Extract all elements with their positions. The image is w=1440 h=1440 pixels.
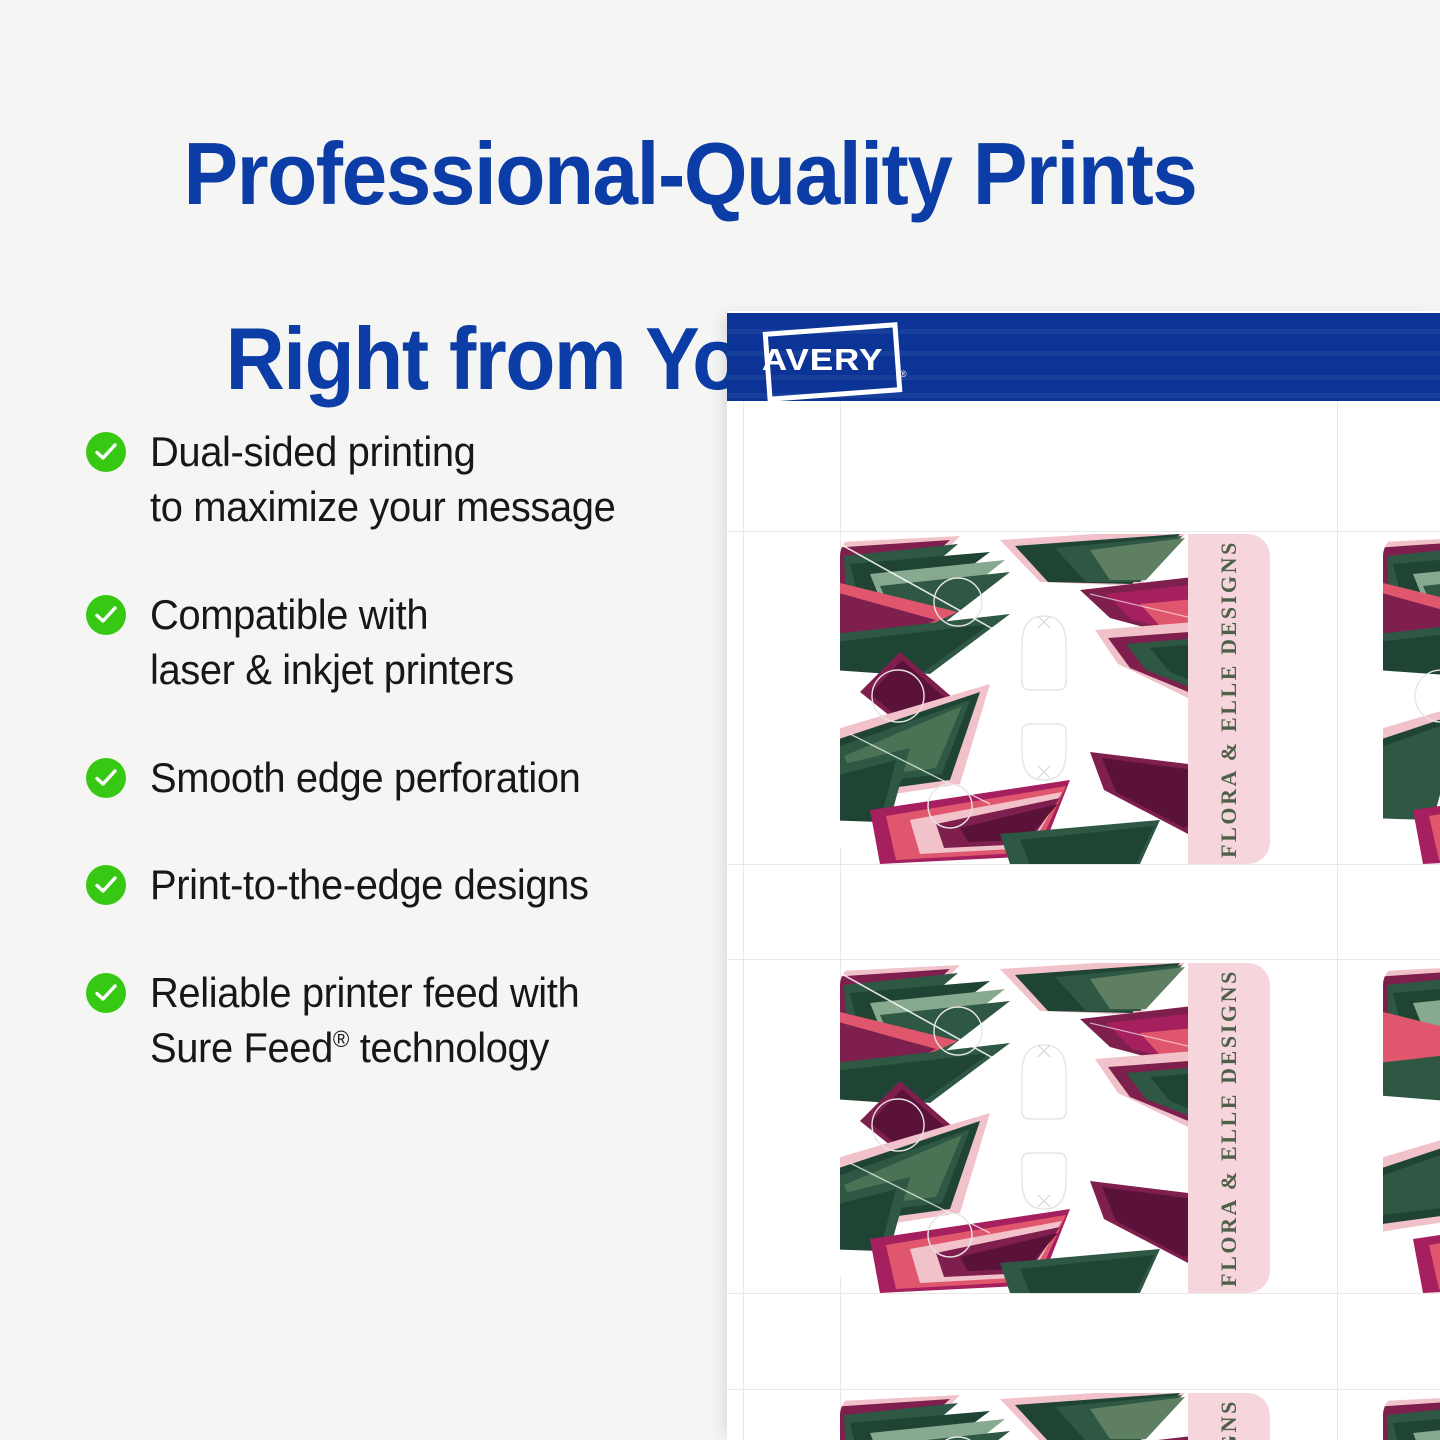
feature-item-smooth-edge-perforation: Smooth edge perforation — [86, 750, 706, 805]
perforation-line-vertical — [743, 401, 744, 1440]
avery-wordmark: AVERY — [762, 342, 883, 378]
perforation-line-horizontal — [727, 1293, 1440, 1294]
label-brand-band: FLORA & ELLE DESIGNS — [1188, 534, 1270, 864]
check-circle-icon — [86, 758, 126, 798]
feature-item-sure-feed: Reliable printer feed with Sure Feed® te… — [86, 965, 706, 1076]
avery-banner: AVERY ® — [727, 313, 1440, 401]
check-circle-icon — [86, 865, 126, 905]
label-sheet: AVERY ® — [727, 311, 1440, 1440]
feature-label: Print-to-the-edge designs — [150, 857, 589, 912]
perforation-line-horizontal — [727, 864, 1440, 865]
feature-list: Dual-sided printing to maximize your mes… — [86, 424, 706, 1076]
label-brand-band: FLORA & ELLE DESIGNS — [1188, 963, 1270, 1293]
check-circle-icon — [86, 973, 126, 1013]
feature-item-print-to-the-edge: Print-to-the-edge designs — [86, 857, 706, 912]
label-brand-text: FLORA & ELLE DESIGNS — [1216, 1399, 1242, 1440]
label-card[interactable]: FLORA & ELLE DESIGNS — [1383, 534, 1440, 864]
label-card[interactable]: FLORA & ELLE DESIGNS — [1383, 963, 1440, 1293]
feature-label: Reliable printer feed with Sure Feed® te… — [150, 965, 579, 1076]
perforation-line-horizontal — [727, 1389, 1440, 1390]
label-brand-text: FLORA & ELLE DESIGNS — [1216, 969, 1242, 1287]
floral-leaf-artwork — [1383, 1393, 1440, 1440]
feature-label: Smooth edge perforation — [150, 750, 580, 805]
floral-leaf-artwork — [1383, 534, 1440, 864]
floral-leaf-artwork — [1383, 963, 1440, 1293]
feature-label: Compatible with laser & inkjet printers — [150, 587, 514, 698]
check-circle-icon — [86, 432, 126, 472]
perforation-line-horizontal — [727, 531, 1440, 532]
label-brand-band: FLORA & ELLE DESIGNS — [1188, 1393, 1270, 1440]
feature-item-dual-sided-printing: Dual-sided printing to maximize your mes… — [86, 424, 706, 535]
perforation-line-horizontal — [727, 959, 1440, 960]
avery-registered-mark: ® — [900, 369, 907, 379]
feature-item-printer-compatibility: Compatible with laser & inkjet printers — [86, 587, 706, 698]
label-card[interactable]: FLORA & ELLE DESIGNS — [1383, 1393, 1440, 1440]
label-card[interactable]: FLORA & ELLE DESIGNS — [840, 534, 1270, 864]
perforation-line-vertical — [1337, 401, 1338, 1440]
feature-label: Dual-sided printing to maximize your mes… — [150, 424, 615, 535]
registered-trademark-icon: ® — [333, 1026, 349, 1052]
check-circle-icon — [86, 595, 126, 635]
page-title-line-1: Professional-Quality Prints — [48, 128, 1331, 220]
avery-logo: AVERY ® — [757, 317, 917, 397]
label-card[interactable]: FLORA & ELLE DESIGNS — [840, 963, 1270, 1293]
label-brand-text: FLORA & ELLE DESIGNS — [1216, 540, 1242, 858]
feature-label-part-2: technology — [349, 1024, 549, 1071]
label-card[interactable]: FLORA & ELLE DESIGNS — [840, 1393, 1270, 1440]
